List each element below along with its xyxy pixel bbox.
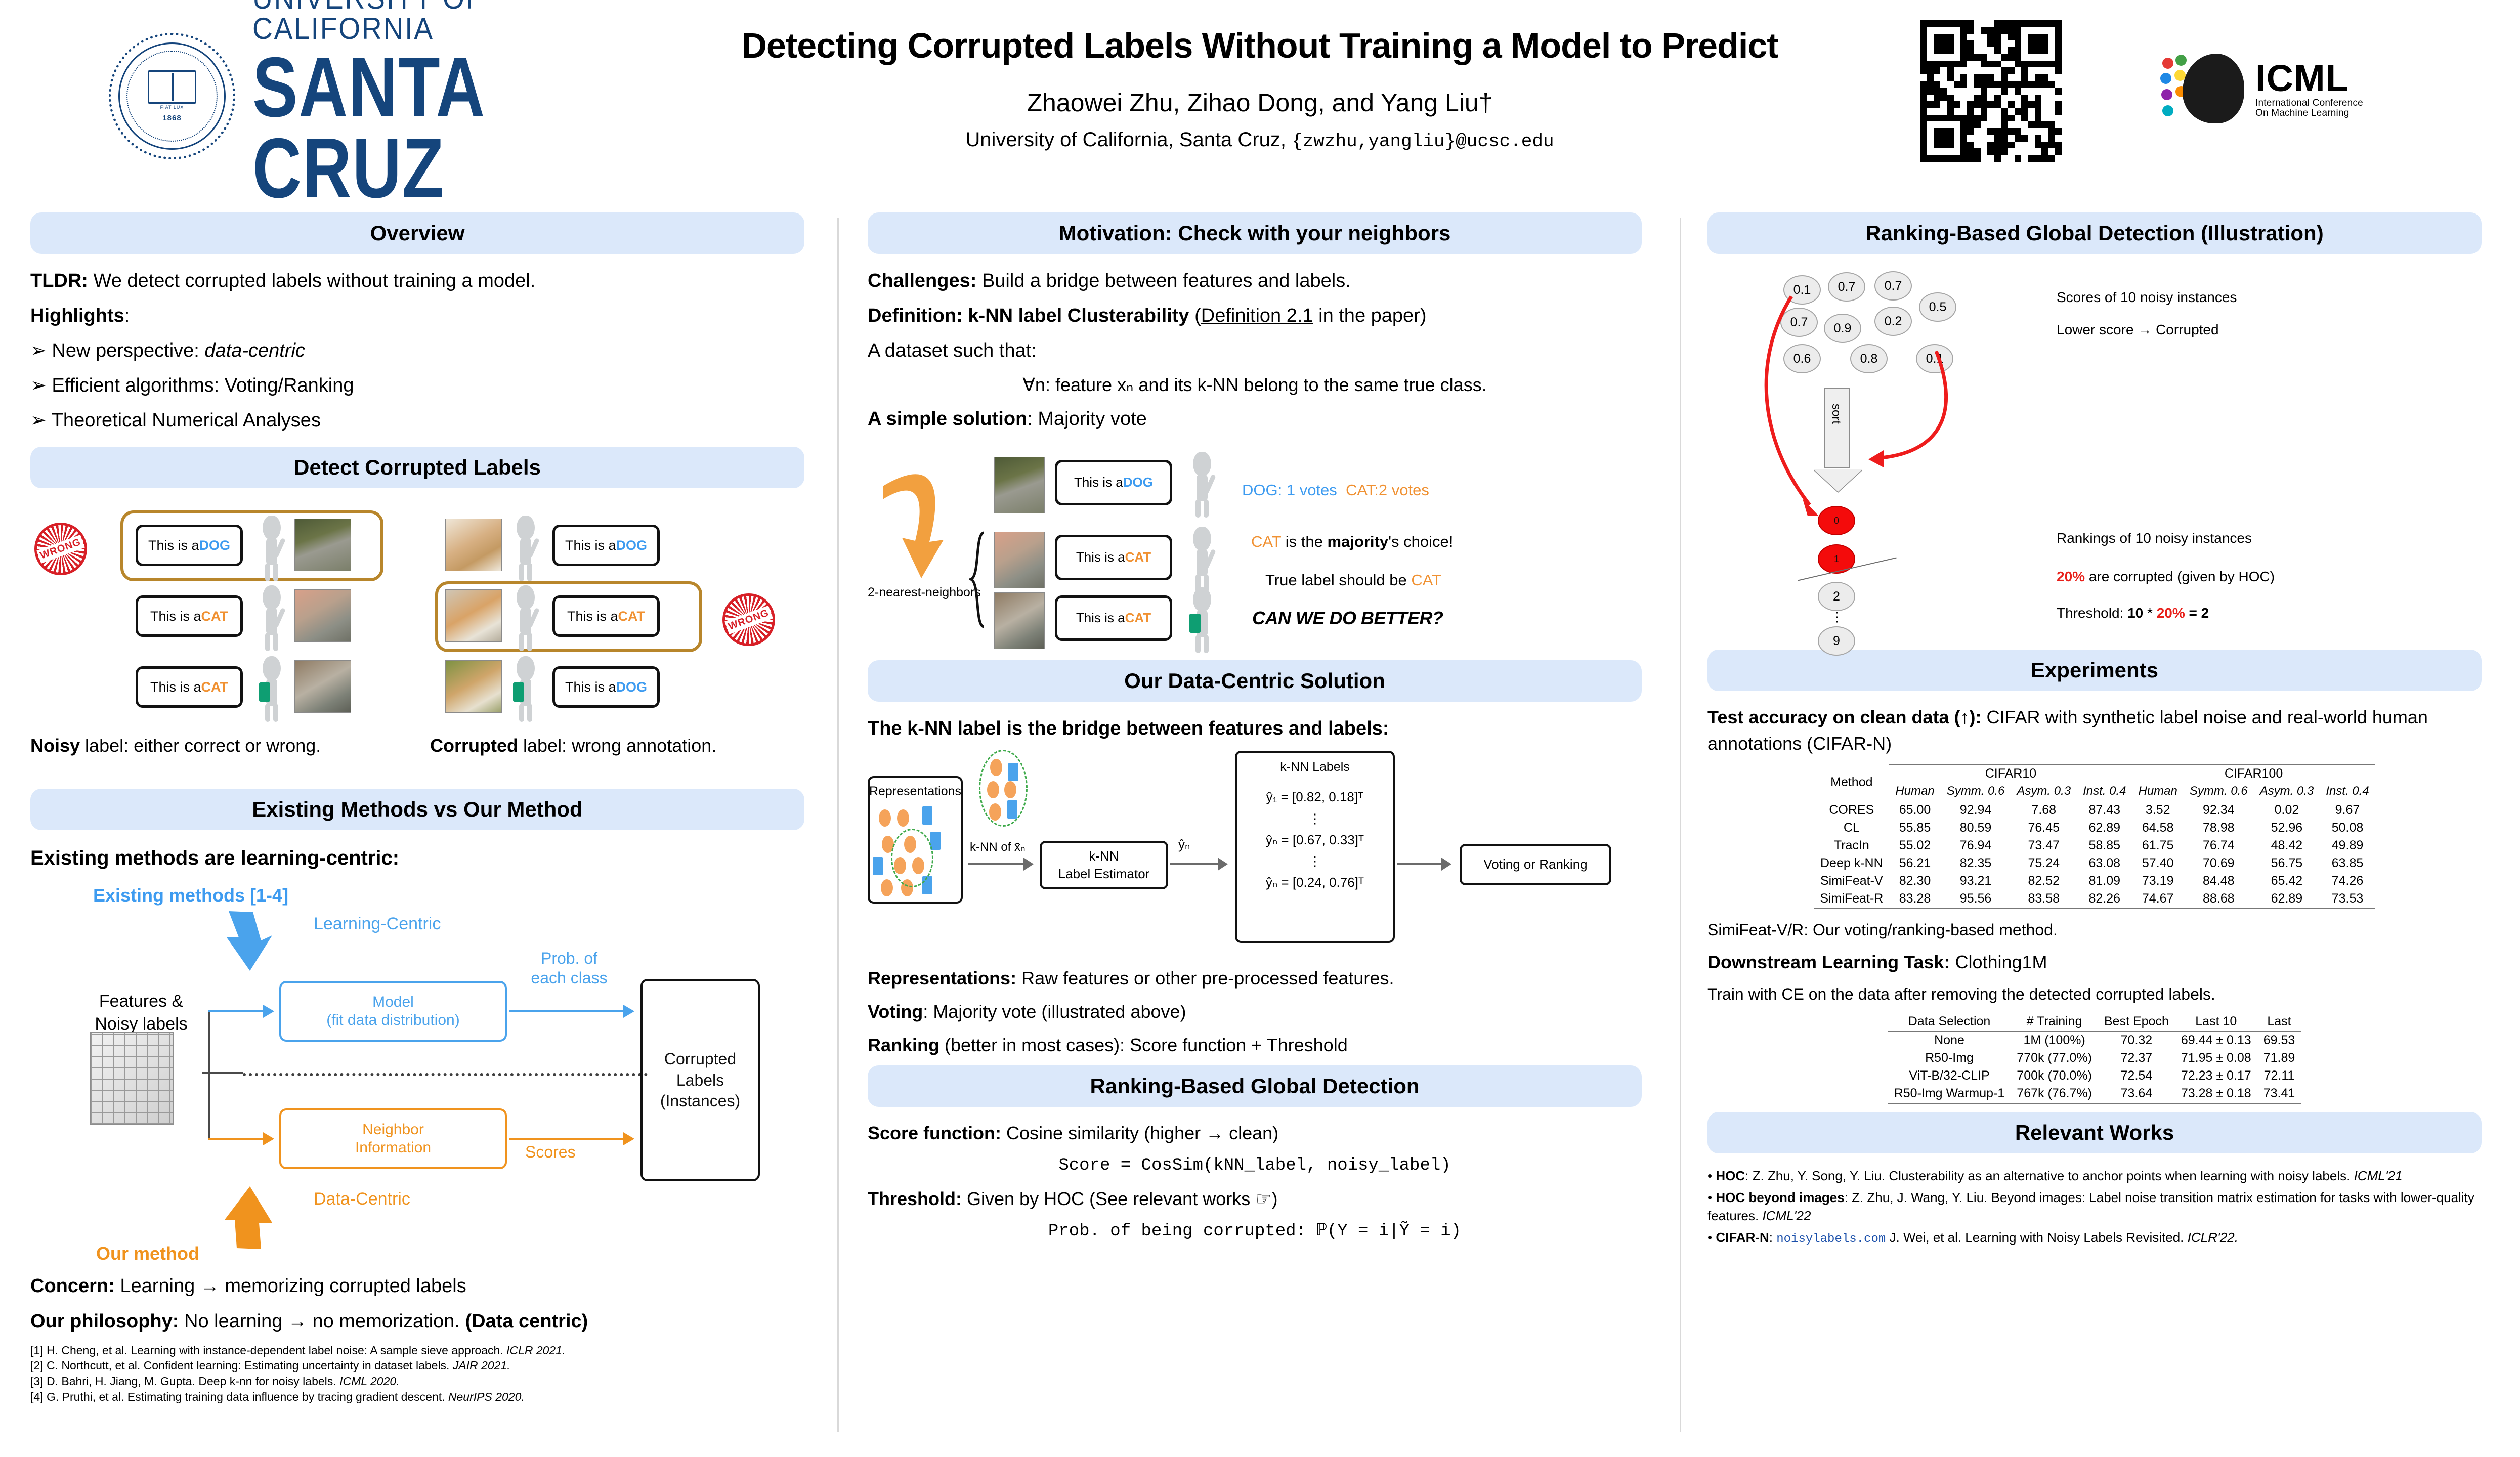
table-cell: 0.02: [2254, 801, 2320, 820]
features-noisy-labels-label: Features & Noisy labels: [78, 990, 204, 1035]
red-mapping-curves-icon: [1748, 287, 2011, 540]
label-bubble-1: This is a DOG: [136, 525, 243, 566]
column-middle: Motivation: Check with your neighbors Ch…: [868, 212, 1642, 1251]
cat-vote-count: CAT:2 votes: [1346, 481, 1429, 499]
arrow-voting-head: [1441, 858, 1451, 871]
prob-line-2: each class: [516, 968, 622, 988]
corrupted-label-caption: Corrupted label: wrong annotation.: [430, 735, 716, 756]
university-line-2: SANTA CRUZ: [252, 47, 591, 208]
arrow-to-model-head: [263, 1005, 274, 1018]
table-cell: 87.43: [2077, 801, 2132, 820]
true-label-pre: True label should be: [1265, 571, 1411, 589]
image-thumbnail-cat-3: [294, 660, 351, 713]
table-cell: 82.26: [2077, 890, 2132, 908]
table-bottom-rule: [1888, 1102, 2301, 1103]
can-we-do-better-note: CAN WE DO BETTER?: [1252, 608, 1443, 629]
rank-oval-1: 1: [1818, 544, 1855, 574]
score-formula: Score = CosSim(kNN_label, noisy_label): [868, 1153, 1642, 1178]
voting-label: Voting: [868, 1001, 923, 1022]
noisylabels-link[interactable]: noisylabels.com: [1776, 1232, 1886, 1246]
ranking-text: (better in most cases): Score function +…: [939, 1035, 1348, 1055]
tldr-text: We detect corrupted labels without train…: [88, 270, 535, 291]
section-header-overview: Overview: [30, 212, 804, 254]
table-cell: 78.98: [2184, 819, 2254, 837]
arrow-knn-in-head: [1023, 858, 1034, 871]
table-cell: SimiFeat-R: [1814, 890, 1889, 908]
bubble-label: DOG: [199, 538, 231, 553]
table-cell: 72.54: [2098, 1067, 2175, 1085]
bullet-marker: ➢: [30, 340, 47, 361]
knn-pipeline-figure: Representations k-NN of x̄ₙ k-NN Label E…: [868, 750, 1642, 917]
corrupted-box-line-3: (Instances): [660, 1091, 740, 1112]
affiliation: University of California, Santa Cruz, {z…: [678, 128, 1842, 152]
bubble-label: CAT: [1125, 549, 1151, 565]
table-row: None1M (100%)70.3269.44 ± 0.1369.53: [1888, 1031, 2301, 1049]
arrow-knn-in-line: [968, 863, 1024, 865]
reference-text: [4] G. Pruthi, et al. Estimating trainin…: [30, 1390, 448, 1403]
table-cell: 71.95 ± 0.08: [2175, 1049, 2257, 1067]
philosophy-line: Our philosophy: No learning → no memoriz…: [30, 1308, 804, 1336]
existing-vs-our-method-diagram: Existing methods [1-4] Learning-Centric …: [30, 880, 804, 1264]
highlights-label: Highlights: [30, 305, 124, 326]
test-accuracy-line: Test accuracy on clean data (↑): CIFAR w…: [1707, 704, 2482, 757]
bubble-prefix: This is a: [1076, 549, 1125, 565]
table-cell: 61.75: [2132, 837, 2184, 854]
table-cell: 49.89: [2320, 837, 2375, 854]
brace-icon: [969, 531, 987, 630]
column-left: Overview TLDR: We detect corrupted label…: [30, 212, 804, 1405]
ranking-label: Ranking: [868, 1035, 939, 1055]
bullet-marker: ➢: [30, 410, 47, 431]
bubble-prefix: This is a: [565, 538, 616, 553]
test-accuracy-label: Test accuracy on clean data (↑):: [1707, 707, 1982, 727]
dataset-such-that: A dataset such that:: [868, 337, 1642, 365]
voting-line: Voting: Majority vote (illustrated above…: [868, 999, 1642, 1025]
section-header-ranking-illustration: Ranking-Based Global Detection (Illustra…: [1707, 212, 2482, 254]
table-col-header: Data Selection: [1888, 1013, 2011, 1031]
table-cell: 83.58: [2011, 890, 2077, 908]
vote-annotator-1: [1186, 452, 1218, 518]
table-cell: R50-Img: [1888, 1049, 2011, 1067]
table-col-header: # Training: [2011, 1013, 2098, 1031]
our-method-label: Our method: [96, 1243, 199, 1264]
work-name: HOC: [1716, 1168, 1745, 1183]
reference-text: [1] H. Cheng, et al. Learning with insta…: [30, 1344, 506, 1357]
cifar-results-table: MethodCIFAR10CIFAR100HumanSymm. 0.6Asym.…: [1814, 764, 2375, 909]
majority-bold: majority: [1327, 533, 1388, 550]
vote-bubble-1: This is a DOG: [1055, 460, 1172, 505]
table-cell: 92.94: [1941, 801, 2011, 820]
table-col-header: Best Epoch: [2098, 1013, 2175, 1031]
definition-reference[interactable]: Definition 2.1: [1201, 305, 1313, 326]
model-line-1: Model: [326, 993, 459, 1012]
threshold-line: Threshold: Given by HOC (See relevant wo…: [868, 1186, 1642, 1212]
table-cell: 73.53: [2320, 890, 2375, 908]
annotator-figure-2: [256, 585, 287, 651]
rank-ellipsis: ⋮: [1830, 609, 1844, 625]
dog-vote-count: DOG: 1 votes: [1242, 481, 1337, 499]
estimator-line-1: k-NN: [1089, 847, 1119, 865]
prob-formula: Prob. of being corrupted: ℙ(Y = i|Ỹ = i): [868, 1219, 1642, 1244]
arrow-neighbor-out-head: [623, 1132, 634, 1145]
majority-rest-b: 's choice!: [1388, 533, 1453, 550]
table-cell: 62.89: [2254, 890, 2320, 908]
noisy-rest: label: either correct or wrong.: [80, 735, 321, 756]
table-col-header: Human: [2132, 783, 2184, 801]
table-cell: CL: [1814, 819, 1889, 837]
image-thumbnail-cat-2: [294, 589, 351, 642]
image-thumbnail-cat-1: [294, 519, 351, 571]
knn-label-row-2: ŷₙ = [0.67, 0.33]ᵀ: [1266, 831, 1364, 849]
downstream-label: Downstream Learning Task:: [1707, 952, 1950, 972]
table-col-header: Inst. 0.4: [2077, 783, 2132, 801]
table-cell: 73.28 ± 0.18: [2175, 1085, 2257, 1102]
score-function-line: Score function: Cosine similarity (highe…: [868, 1120, 1642, 1146]
learning-centric-label: Learning-Centric: [314, 914, 441, 934]
table-cell: 82.35: [1941, 854, 2011, 872]
data-cube-icon: [90, 1032, 174, 1125]
table-cell: 56.21: [1889, 854, 1940, 872]
work-text: J. Wei, et al. Learning with Noisy Label…: [1886, 1230, 2187, 1245]
majority-vote-figure: 2-nearest-neighbors This is a DOG This i…: [868, 441, 1642, 653]
bullet-text: New perspective:: [52, 340, 204, 361]
neighbor-line-2: Information: [355, 1139, 431, 1158]
vote-thumbnail-cat-1: [994, 457, 1045, 513]
bubble-prefix: This is a: [565, 679, 616, 695]
section-header-detect-corrupted-labels: Detect Corrupted Labels: [30, 447, 804, 488]
majority-cat: CAT: [1251, 533, 1281, 550]
label-bubble-5: This is a CAT: [552, 595, 660, 637]
threshold-n: 10: [2127, 605, 2143, 621]
image-thumbnail-dog-2: [445, 589, 502, 642]
table-cell: 69.53: [2257, 1031, 2301, 1049]
rank-oval-2: 2: [1818, 582, 1855, 611]
representations-line: Representations: Raw features or other p…: [868, 965, 1642, 992]
threshold-label: Threshold:: [868, 1188, 962, 1209]
table-cell: 95.56: [1941, 890, 2011, 908]
table-cell: 92.34: [2184, 801, 2254, 820]
percent-rest: are corrupted (given by HOC): [2085, 569, 2275, 584]
work-text: : Z. Zhu, Y. Song, Y. Liu. Clusterabilit…: [1745, 1168, 2354, 1183]
table-row: Deep k-NN56.2182.3575.2463.0857.4070.695…: [1814, 854, 2375, 872]
threshold-pct: 20%: [2157, 605, 2185, 621]
highlights-line: Highlights:: [30, 302, 804, 330]
bubble-prefix: This is a: [150, 609, 201, 624]
knn-labels-title: k-NN Labels: [1280, 759, 1350, 776]
section-header-ranking-based-detection: Ranking-Based Global Detection: [868, 1065, 1642, 1107]
vote-counts: DOG: 1 votes CAT:2 votes: [1242, 481, 1429, 499]
representations-box: Representations: [868, 776, 963, 904]
philosophy-label: Our philosophy:: [30, 1311, 179, 1332]
knn-of-x-label: k-NN of x̄ₙ: [970, 840, 1026, 854]
table-cell: 70.69: [2184, 854, 2254, 872]
table-cell: 82.30: [1889, 872, 1940, 890]
bullet-text: Efficient algorithms: Voting/Ranking: [52, 375, 354, 396]
reference-item-1: [1] H. Cheng, et al. Learning with insta…: [30, 1343, 804, 1358]
table-row: SimiFeat-V82.3093.2182.5281.0973.1984.48…: [1814, 872, 2375, 890]
reference-text: [3] D. Bahri, H. Jiang, M. Gupta. Deep k…: [30, 1375, 339, 1388]
majority-rest-a: is the: [1281, 533, 1327, 550]
table-cell: 65.42: [2254, 872, 2320, 890]
table-col-header: Inst. 0.4: [2320, 783, 2375, 801]
true-label-val: CAT: [1411, 571, 1441, 589]
table-cell: 62.89: [2077, 819, 2132, 837]
table-cell: 73.47: [2011, 837, 2077, 854]
table-cell: 7.68: [2011, 801, 2077, 820]
column-divider-1: [837, 218, 839, 1432]
vote-annotator-2: [1186, 527, 1218, 592]
work-colon: :: [1769, 1230, 1776, 1245]
table-row: ViT-B/32-CLIP700k (70.0%)72.5472.23 ± 0.…: [1888, 1067, 2301, 1085]
bubble-prefix: This is a: [567, 609, 618, 624]
definition-paren: (: [1189, 305, 1201, 326]
percent-value: 20%: [2057, 569, 2085, 584]
knn-label-row-dots-2: ⋮: [1308, 852, 1321, 870]
table-cell: 52.96: [2254, 819, 2320, 837]
simple-solution-text: : Majority vote: [1027, 408, 1147, 430]
bubble-label: DOG: [1123, 475, 1153, 490]
representations-box-label: Representations: [869, 783, 961, 800]
corrupted-rest: label: wrong annotation.: [518, 735, 716, 756]
table-cell: 72.23 ± 0.17: [2175, 1067, 2257, 1085]
table-cell: 64.58: [2132, 819, 2184, 837]
icml-brain-icon: [2160, 46, 2246, 132]
knn-label-row-1: ŷ₁ = [0.82, 0.18]ᵀ: [1266, 788, 1364, 806]
bubble-label: CAT: [618, 609, 646, 624]
table-cell: 93.21: [1941, 872, 2011, 890]
knn-labels-box: k-NN Labels ŷ₁ = [0.82, 0.18]ᵀ ⋮ ŷₙ = [0…: [1235, 751, 1395, 943]
table-col-header: Symm. 0.6: [1941, 783, 2011, 801]
neighbor-line-1: Neighbor: [355, 1121, 431, 1139]
table-cell: 82.52: [2011, 872, 2077, 890]
true-label-note: True label should be CAT: [1265, 571, 1441, 589]
table-cell: 73.19: [2132, 872, 2184, 890]
table-cell: 56.75: [2254, 854, 2320, 872]
orange-arrow-icon: [222, 1183, 277, 1252]
reference-text: [2] C. Northcutt, et al. Confident learn…: [30, 1359, 453, 1372]
simple-solution-label: A simple solution: [868, 408, 1027, 430]
arrow-model-out-head: [623, 1005, 634, 1018]
noisy-label-caption: Noisy label: either correct or wrong.: [30, 735, 321, 756]
table-cell: 73.41: [2257, 1085, 2301, 1102]
bubble-label: CAT: [1125, 610, 1151, 626]
table-cell: None: [1888, 1031, 2011, 1049]
model-box: Model (fit data distribution): [279, 981, 507, 1042]
sort-arrow-icon: [1824, 388, 1850, 468]
definition-label: Definition:: [868, 305, 963, 326]
section-header-existing-vs-ours: Existing Methods vs Our Method: [30, 789, 804, 830]
reference-list: [1] H. Cheng, et al. Learning with insta…: [30, 1343, 804, 1405]
threshold-eq: = 2: [2185, 605, 2209, 621]
model-line-2: (fit data distribution): [326, 1011, 459, 1030]
annotator-figure-1: [256, 516, 287, 581]
table-cell: 83.28: [1889, 890, 1940, 908]
existing-methods-tag: Existing methods [1-4]: [93, 885, 288, 906]
threshold-text: Given by HOC (See relevant works ☞): [962, 1188, 1277, 1209]
wrong-stamp-icon-2: WRONG: [722, 593, 775, 646]
reference-item-2: [2] C. Northcutt, et al. Confident learn…: [30, 1358, 804, 1374]
image-thumbnail-dog-3: [445, 660, 502, 713]
knn-label-row-dots-1: ⋮: [1308, 810, 1321, 828]
table-row: R50-Img Warmup-1767k (76.7%)73.6473.28 ±…: [1888, 1085, 2301, 1102]
table-row: SimiFeat-R83.2895.5683.5882.2674.6788.68…: [1814, 890, 2375, 908]
blue-arrow-icon: [222, 909, 277, 975]
table-cell: 65.00: [1889, 801, 1940, 820]
poster-header: FIAT LUX 1868 UNIVERSITY OF CALIFORNIA S…: [0, 0, 2520, 202]
table-cell: 81.09: [2077, 872, 2132, 890]
relevant-works-list: • HOC: Z. Zhu, Y. Song, Y. Liu. Clustera…: [1707, 1167, 2482, 1248]
bubble-label: DOG: [616, 679, 648, 695]
affiliation-email: {zwzhu,yangliu}@ucsc.edu: [1292, 131, 1554, 152]
simple-solution-line: A simple solution: Majority vote: [868, 405, 1642, 433]
work-venue: ICML'22: [1762, 1208, 1811, 1223]
column-divider-2: [1680, 218, 1681, 1432]
icml-subtitle-1: International Conference: [2255, 98, 2363, 108]
bubble-label: CAT: [201, 679, 229, 695]
vote-bubble-2: This is a CAT: [1055, 535, 1172, 580]
table-row: TracIn55.0276.9473.4758.8561.7576.7448.4…: [1814, 837, 2375, 854]
train-ce-text: Train with CE on the data after removing…: [1707, 982, 2482, 1006]
table-row: CORES65.0092.947.6887.433.5292.340.029.6…: [1814, 801, 2375, 820]
table-cell: 58.85: [2077, 837, 2132, 854]
rank-oval-9: 9: [1818, 626, 1855, 656]
reference-venue: ICLR 2021.: [506, 1344, 565, 1357]
icml-logo: ICML International Conference On Machine…: [2160, 30, 2444, 147]
ucsc-seal-icon: FIAT LUX 1868: [109, 33, 235, 159]
table-bottom-rule: [1814, 908, 2375, 909]
note-percent-corrupted: 20% are corrupted (given by HOC): [2057, 569, 2275, 585]
table-group-header: CIFAR10: [1889, 764, 2132, 783]
neighbor-information-box: Neighbor Information: [279, 1108, 507, 1169]
definition-text: k-NN label Clusterability: [963, 305, 1189, 326]
downstream-text: Clothing1M: [1950, 952, 2047, 972]
table-cell: Deep k-NN: [1814, 854, 1889, 872]
university-line-1: UNIVERSITY OF CALIFORNIA: [252, 0, 642, 44]
table-cell: 84.48: [2184, 872, 2254, 890]
note-threshold: Threshold: 10 * 20% = 2: [2057, 605, 2209, 621]
corrupted-labels-box: Corrupted Labels (Instances): [640, 979, 760, 1181]
table-cell: 9.67: [2320, 801, 2375, 820]
seal-book-icon: [148, 70, 196, 104]
definition-line: Definition: k-NN label Clusterability (D…: [868, 302, 1642, 330]
arrow-to-neighbor-head: [263, 1132, 274, 1145]
table-cell: 69.44 ± 0.13: [2175, 1031, 2257, 1049]
definition-paren-rest: in the paper): [1313, 305, 1427, 326]
note-rankings: Rankings of 10 noisy instances: [2057, 530, 2252, 546]
arrow-knn-out-line: [1170, 863, 1219, 865]
score-text: Cosine similarity (higher → clean): [1001, 1123, 1278, 1143]
detect-corrupted-labels-figure: WRONG This is a DOG This is a CAT This i…: [30, 501, 804, 785]
annotator-figure-5: [510, 585, 541, 651]
concern-text: Learning → memorizing corrupted labels: [115, 1275, 466, 1297]
bullet-emphasis: data-centric: [204, 340, 305, 361]
icml-wordmark: ICML: [2255, 59, 2363, 98]
table-cell: CORES: [1814, 801, 1889, 820]
challenges-text: Build a bridge between features and labe…: [976, 270, 1350, 291]
bubble-prefix: This is a: [150, 679, 201, 695]
bubble-label: CAT: [201, 609, 229, 624]
table-cell: 88.68: [2184, 890, 2254, 908]
bubble-prefix: This is a: [1074, 475, 1123, 490]
vote-thumbnail-cat-3: [994, 592, 1045, 649]
ranking-line: Ranking (better in most cases): Score fu…: [868, 1032, 1642, 1058]
yhat-n-label: ŷₙ: [1178, 837, 1190, 852]
concern-line: Concern: Learning → memorizing corrupted…: [30, 1272, 804, 1300]
table-col-header: Last: [2257, 1013, 2301, 1031]
score-label: Score function:: [868, 1123, 1001, 1143]
section-header-relevant-works: Relevant Works: [1707, 1112, 2482, 1153]
note-scores: Scores of 10 noisy instances: [2057, 289, 2237, 306]
trunk-horizontal-line: [202, 1072, 243, 1074]
bullet-dot: •: [1707, 1190, 1712, 1205]
data-centric-label: Data-Centric: [314, 1189, 410, 1209]
table-cell: 70.32: [2098, 1031, 2175, 1049]
corrupted-box-line-1: Corrupted: [660, 1049, 740, 1070]
bubble-prefix: This is a: [148, 538, 199, 553]
affiliation-text: University of California, Santa Cruz,: [965, 128, 1292, 151]
poster-title: Detecting Corrupted Labels Without Train…: [678, 25, 1842, 66]
table-col-header: Last 10: [2175, 1013, 2257, 1031]
table-cell: 72.11: [2257, 1067, 2301, 1085]
table-cell: SimiFeat-V: [1814, 872, 1889, 890]
seal-motto: FIAT LUX: [160, 105, 184, 110]
bullet-marker: ➢: [30, 375, 47, 396]
wrong-stamp-label: WRONG: [724, 606, 773, 634]
noisy-bold: Noisy: [30, 735, 80, 756]
table-row: CL55.8580.5976.4562.8964.5878.9852.9650.…: [1814, 819, 2375, 837]
table-cell: 700k (70.0%): [2011, 1067, 2098, 1085]
reference-item-4: [4] G. Pruthi, et al. Estimating trainin…: [30, 1389, 804, 1405]
image-thumbnail-dog-1: [445, 519, 502, 571]
bullet-dot: •: [1707, 1168, 1712, 1183]
table-cell: 71.89: [2257, 1049, 2301, 1067]
vote-bubble-3: This is a CAT: [1055, 595, 1172, 641]
label-bubble-2: This is a CAT: [136, 595, 243, 637]
title-block: Detecting Corrupted Labels Without Train…: [678, 25, 1842, 152]
work-name: HOC beyond images: [1716, 1190, 1844, 1205]
voting-or-ranking-label: Voting or Ranking: [1483, 855, 1587, 873]
table-cell: 3.52: [2132, 801, 2184, 820]
simifeat-note: SimiFeat-V/R: Our voting/ranking-based m…: [1707, 918, 2482, 941]
table-cell: TracIn: [1814, 837, 1889, 854]
curved-orange-arrow-icon: [873, 451, 954, 592]
table-cell: 57.40: [2132, 854, 2184, 872]
ranking-illustration-figure: 0.1 0.7 0.7 0.5 0.7 0.9 0.2 0.6 0.8 0.1 …: [1707, 267, 2482, 621]
table-cell: ViT-B/32-CLIP: [1888, 1067, 2011, 1085]
estimator-line-2: Label Estimator: [1058, 865, 1150, 883]
table-cell: 770k (77.0%): [2011, 1049, 2098, 1067]
highlight-item-1: ➢ New perspective: data-centric: [30, 337, 804, 365]
table-cell: 80.59: [1941, 819, 2011, 837]
voting-text: : Majority vote (illustrated above): [923, 1001, 1186, 1022]
reference-venue: JAIR 2021.: [453, 1359, 510, 1372]
author-list: Zhaowei Zhu, Zihao Dong, and Yang Liu†: [678, 88, 1842, 117]
qr-code-icon[interactable]: [1920, 20, 2062, 162]
trunk-vertical-line: [208, 1011, 210, 1139]
label-bubble-6: This is a DOG: [552, 666, 660, 708]
table-cell: 73.64: [2098, 1085, 2175, 1102]
relevant-work-1: • HOC: Z. Zhu, Y. Song, Y. Liu. Clustera…: [1707, 1167, 2482, 1185]
seal-year: 1868: [162, 114, 181, 122]
section-header-motivation: Motivation: Check with your neighbors: [868, 212, 1642, 254]
bubble-label: DOG: [616, 538, 648, 553]
arrow-to-neighbor-line: [208, 1138, 264, 1140]
downstream-line: Downstream Learning Task: Clothing1M: [1707, 949, 2482, 975]
table-cell: 72.37: [2098, 1049, 2175, 1067]
threshold-pre: Threshold:: [2057, 605, 2127, 621]
tldr-line: TLDR: We detect corrupted labels without…: [30, 267, 804, 295]
table-cell: 76.45: [2011, 819, 2077, 837]
